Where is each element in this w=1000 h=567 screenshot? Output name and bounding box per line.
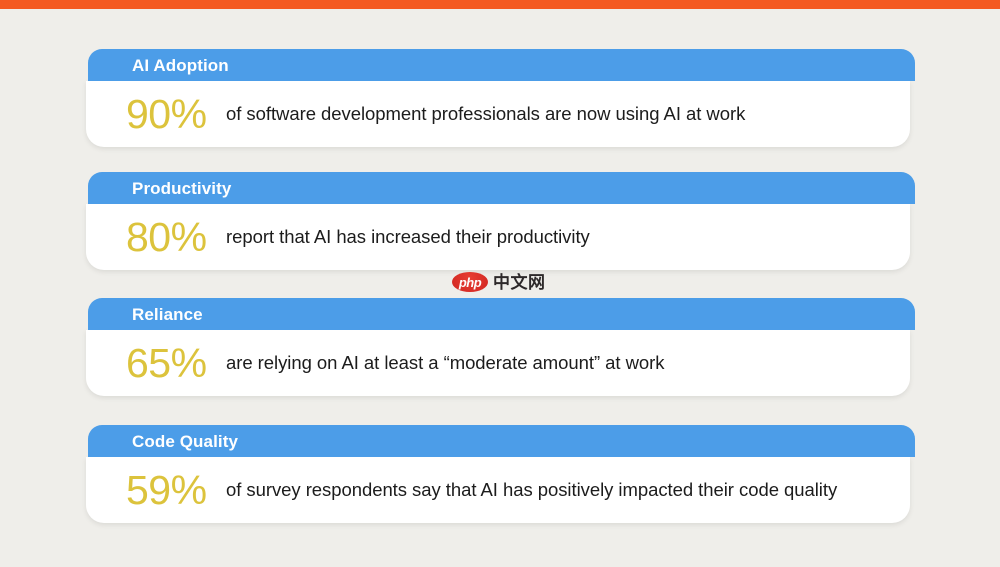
top-accent-bar: [0, 0, 1000, 9]
stat-card-body: 80% report that AI has increased their p…: [86, 204, 910, 270]
stat-card-ai-adoption: AI Adoption 90% of software development …: [88, 49, 915, 147]
stat-card-header: Productivity: [88, 172, 915, 204]
stat-card-header: Reliance: [88, 298, 915, 330]
stat-card-header: AI Adoption: [88, 49, 915, 81]
stat-card-title: Code Quality: [132, 433, 238, 450]
stat-description: report that AI has increased their produ…: [224, 225, 590, 248]
stat-card-code-quality: Code Quality 59% of survey respondents s…: [88, 425, 915, 523]
stat-card-title: AI Adoption: [132, 57, 229, 74]
stat-description: are relying on AI at least a “moderate a…: [224, 351, 664, 374]
stat-card-title: Productivity: [132, 180, 231, 197]
stat-card-header: Code Quality: [88, 425, 915, 457]
stat-card-reliance: Reliance 65% are relying on AI at least …: [88, 298, 915, 396]
stat-card-body: 65% are relying on AI at least a “modera…: [86, 330, 910, 396]
stat-description: of software development professionals ar…: [224, 102, 745, 125]
php-logo-icon: php: [452, 272, 488, 292]
stat-percent-value: 80%: [126, 217, 224, 258]
watermark: php 中文网: [452, 271, 546, 293]
stat-percent-value: 65%: [126, 343, 224, 384]
stat-card-body: 59% of survey respondents say that AI ha…: [86, 457, 910, 523]
watermark-site-name: 中文网: [493, 274, 546, 291]
stat-card-title: Reliance: [132, 306, 203, 323]
stat-percent-value: 59%: [126, 470, 224, 511]
stat-description: of survey respondents say that AI has po…: [224, 478, 837, 501]
stat-card-body: 90% of software development professional…: [86, 81, 910, 147]
stat-percent-value: 90%: [126, 94, 224, 135]
stat-card-productivity: Productivity 80% report that AI has incr…: [88, 172, 915, 270]
